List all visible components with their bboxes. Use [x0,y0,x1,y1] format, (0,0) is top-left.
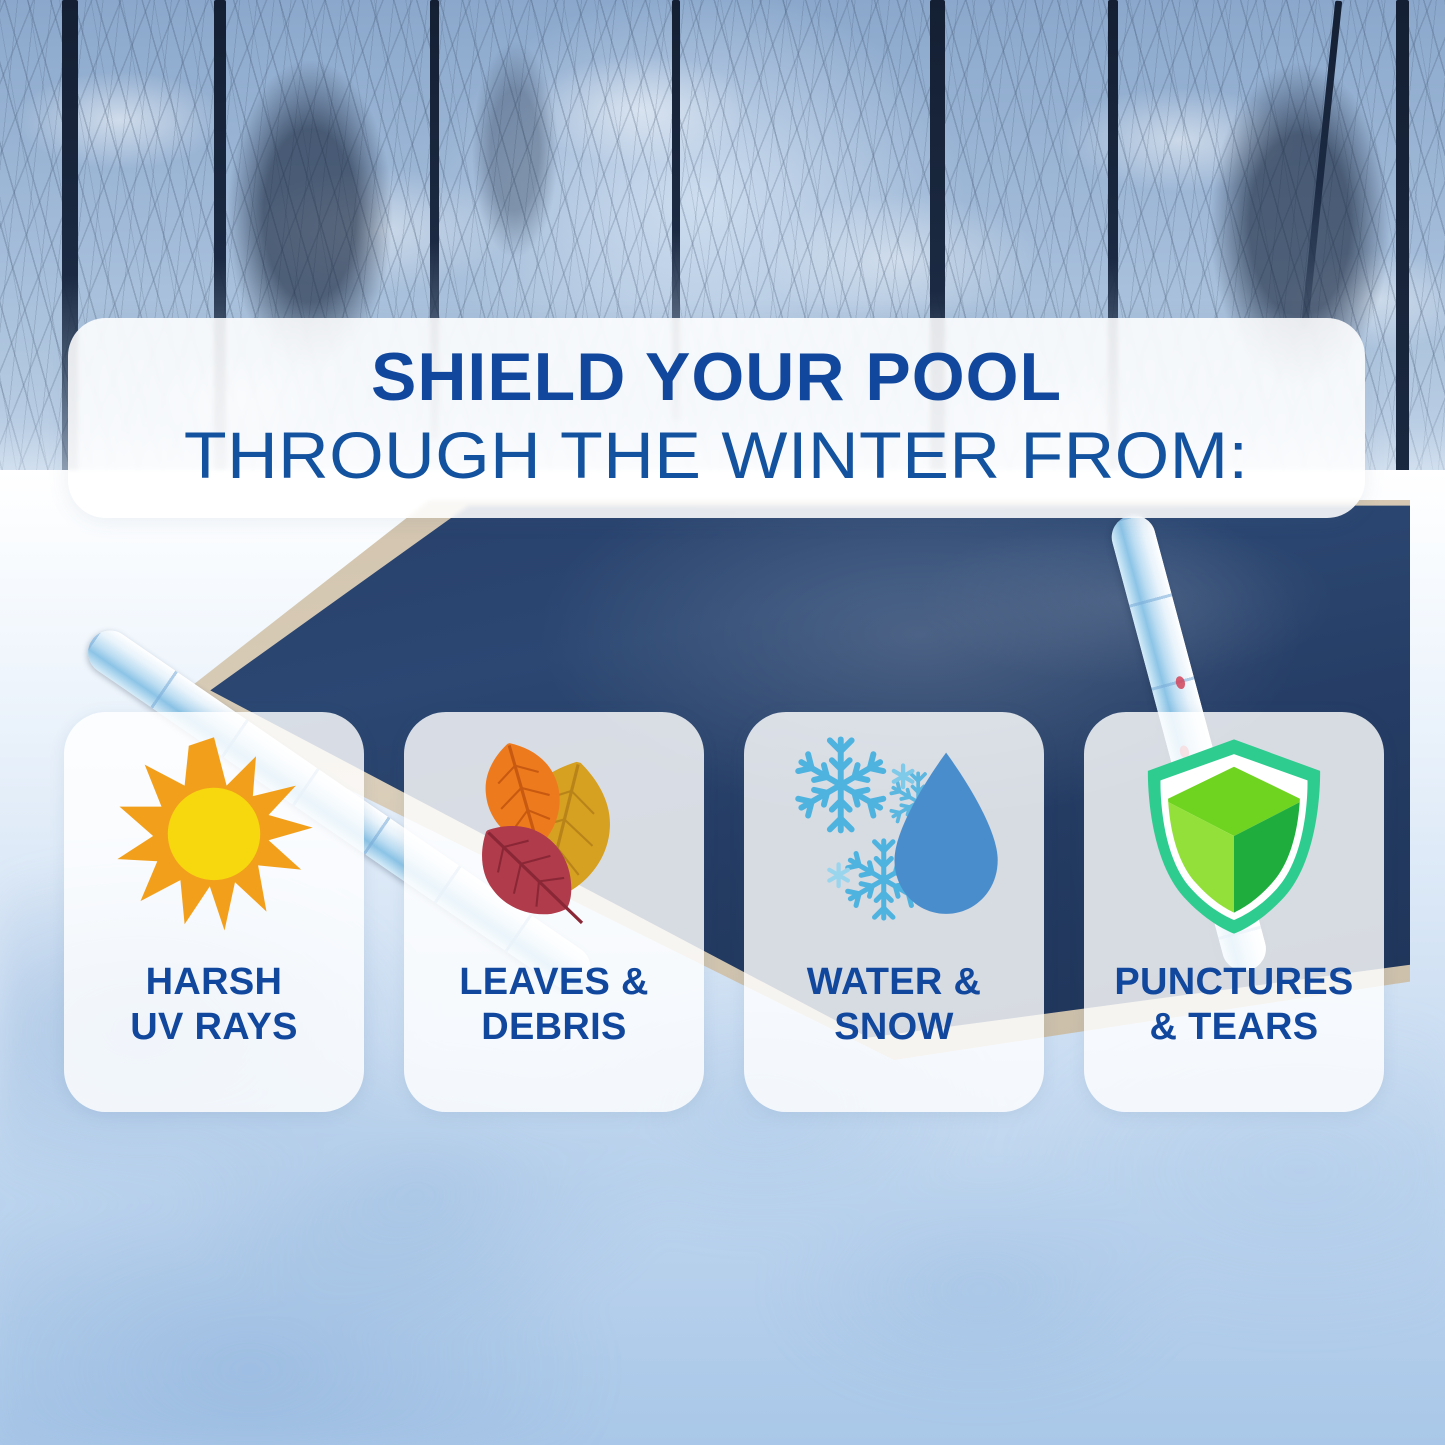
water-drop-icon [894,752,997,913]
sun-icon [109,731,319,941]
snowflake-icon [798,739,883,830]
shield-cube-icon [1129,731,1339,941]
card-icon-slot [744,712,1044,960]
card-label: WATER & SNOW [801,960,988,1050]
card-label: PUNCTURES & TEARS [1108,960,1359,1050]
small-snowflake-icon [829,864,847,886]
evergreen-cluster [455,0,575,300]
card-icon-slot [64,712,364,960]
feature-card-harsh-uv-rays[interactable]: HARSH UV RAYS [64,712,364,1112]
poster-canvas: SHIELD YOUR POOL THROUGH THE WINTER FROM… [0,0,1445,1445]
card-label: LEAVES & DEBRIS [453,960,655,1050]
feature-card-row: HARSH UV RAYS [64,712,1384,1112]
tube-marker [1174,675,1186,690]
card-label: HARSH UV RAYS [124,960,304,1050]
headline-banner: SHIELD YOUR POOL THROUGH THE WINTER FROM… [68,318,1365,518]
autumn-leaves-icon [449,731,659,941]
headline-line-1: SHIELD YOUR POOL [371,343,1062,411]
card-icon-slot [1084,712,1384,960]
feature-card-leaves-debris[interactable]: LEAVES & DEBRIS [404,712,704,1112]
feature-card-punctures-tears[interactable]: PUNCTURES & TEARS [1084,712,1384,1112]
snowflakes-waterdrop-icon [787,729,1002,944]
card-icon-slot [404,712,704,960]
headline-line-2: THROUGH THE WINTER FROM: [184,419,1249,493]
feature-card-water-snow[interactable]: WATER & SNOW [744,712,1044,1112]
